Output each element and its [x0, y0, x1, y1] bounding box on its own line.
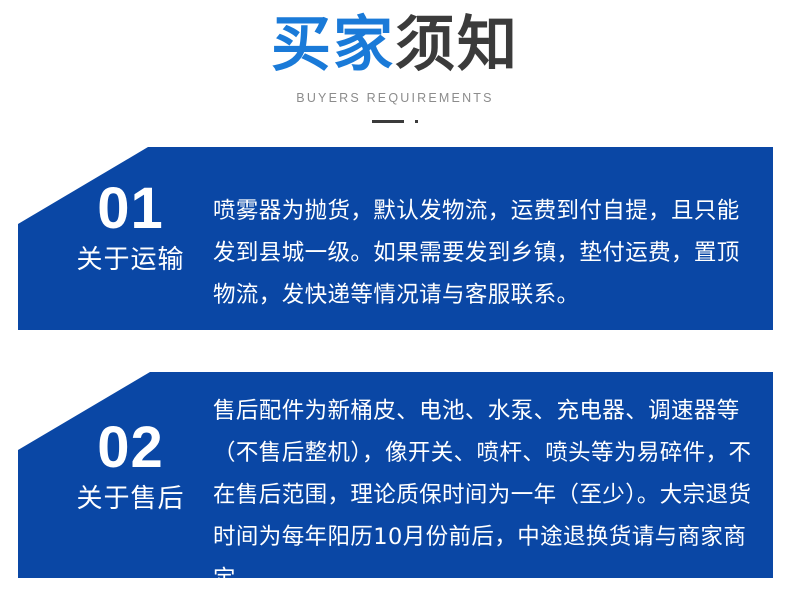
notice-block-aftersales-caption: 关于售后 — [48, 483, 213, 515]
divider-bar-icon — [372, 120, 404, 123]
page-subtitle: BUYERS REQUIREMENTS — [0, 90, 790, 106]
page-header: 买家须知 BUYERS REQUIREMENTS — [0, 0, 790, 147]
notice-block-transport-caption: 关于运输 — [48, 244, 213, 276]
notice-block-transport: 01 关于运输 喷雾器为抛货，默认发物流，运费到付自提，且只能发到县城一级。如果… — [18, 147, 773, 330]
notice-block-aftersales: 02 关于售后 售后配件为新桶皮、电池、水泵、充电器、调速器等（不售后整机），像… — [18, 372, 773, 578]
notice-block-aftersales-body: 售后配件为新桶皮、电池、水泵、充电器、调速器等（不售后整机），像开关、喷杆、喷头… — [213, 390, 758, 600]
notice-block-transport-number: 01 — [48, 180, 213, 238]
notice-block-aftersales-label: 02 关于售后 — [48, 419, 213, 515]
notice-block-transport-text: 喷雾器为抛货，默认发物流，运费到付自提，且只能发到县城一级。如果需要发到乡镇，垫… — [213, 190, 758, 316]
title-divider — [372, 118, 418, 126]
page-title-blue-part: 买家 — [271, 10, 395, 80]
page-title-dark-part: 须知 — [395, 10, 519, 80]
notice-block-transport-body: 喷雾器为抛货，默认发物流，运费到付自提，且只能发到县城一级。如果需要发到乡镇，垫… — [213, 190, 758, 316]
notice-block-transport-inner: 01 关于运输 喷雾器为抛货，默认发物流，运费到付自提，且只能发到县城一级。如果… — [18, 147, 773, 330]
notice-block-transport-label: 01 关于运输 — [48, 180, 213, 276]
notice-block-aftersales-number: 02 — [48, 419, 213, 477]
notice-block-aftersales-inner: 02 关于售后 售后配件为新桶皮、电池、水泵、充电器、调速器等（不售后整机），像… — [18, 372, 773, 578]
divider-dot-icon — [415, 120, 418, 123]
notice-block-aftersales-text: 售后配件为新桶皮、电池、水泵、充电器、调速器等（不售后整机），像开关、喷杆、喷头… — [213, 390, 758, 600]
page-title: 买家须知 — [0, 0, 790, 82]
